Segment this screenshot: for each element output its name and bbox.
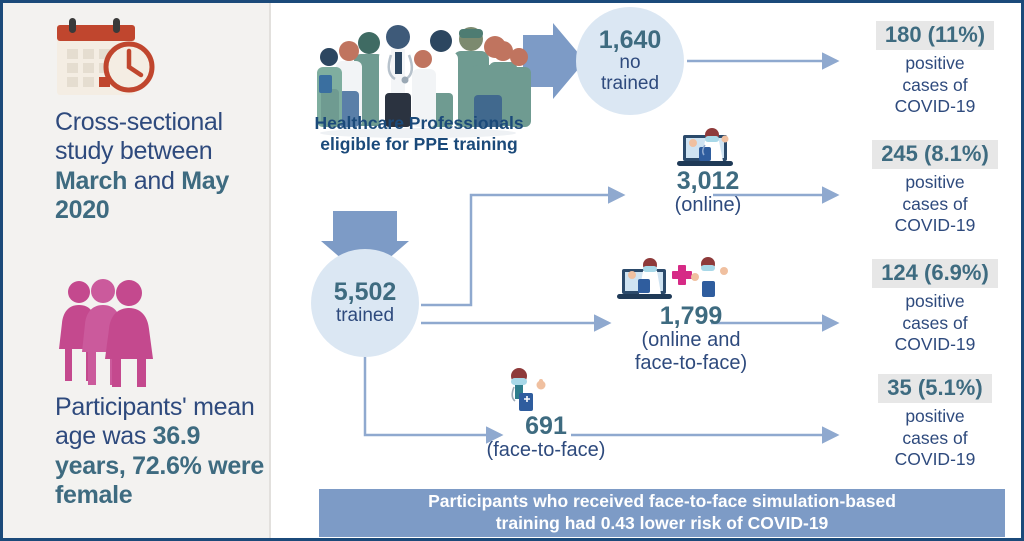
outcome-untrained-sub-2: cases of	[848, 75, 1022, 96]
study-period-text: Cross-sectional study between March and …	[55, 108, 265, 225]
outcome-f2f-head: 35 (5.1%)	[878, 374, 991, 403]
node-untrained[interactable]: 1,640 no trained	[576, 7, 684, 115]
branch-face-to-face[interactable]: 691 (face-to-face)	[451, 413, 641, 462]
outcome-f2f-sub-1: positive	[848, 406, 1022, 427]
outcome-untrained-sub-1: positive	[848, 53, 1022, 74]
infographic-root: Cross-sectional study between March and …	[0, 0, 1024, 541]
outcome-online-sub: positive cases of COVID-19	[848, 172, 1022, 236]
branch-both-value: 1,799	[601, 303, 781, 329]
laptop-doctor-plus-doctor-icon	[616, 253, 736, 305]
outcome-untrained-sub: positive cases of COVID-19	[848, 53, 1022, 117]
outcome-untrained-sub-3: COVID-19	[848, 96, 1022, 117]
outcome-online-sub-3: COVID-19	[848, 215, 1022, 236]
outcome-both-sub: positive cases of COVID-19	[848, 291, 1022, 355]
outcome-f2f-sub: positive cases of COVID-19	[848, 406, 1022, 470]
laptop-doctor-icon	[669, 123, 741, 171]
branch-online-value: 3,012	[643, 168, 773, 194]
branch-f2f-value: 691	[451, 413, 641, 439]
outcome-untrained[interactable]: 180 (11%) positive cases of COVID-19	[848, 21, 1022, 117]
branch-both[interactable]: 1,799 (online and face-to-face)	[601, 303, 781, 374]
node-untrained-label-1: no	[619, 53, 640, 74]
node-untrained-value: 1,640	[599, 27, 662, 53]
outcome-both-sub-3: COVID-19	[848, 334, 1022, 355]
branch-online[interactable]: 3,012 (online)	[643, 168, 773, 217]
team-caption-text: Healthcare Professionals eligible for PP…	[314, 113, 523, 154]
doctor-icon	[493, 365, 555, 417]
conclusion-line-2: training had 0.43 lower risk of COVID-19	[428, 513, 896, 535]
outcome-online[interactable]: 245 (8.1%) positive cases of COVID-19	[848, 140, 1022, 236]
conclusion-banner: Participants who received face-to-face s…	[319, 489, 1005, 537]
node-trained[interactable]: 5,502 trained	[311, 249, 419, 357]
branch-f2f-label-1: (face-to-face)	[451, 439, 641, 461]
left-summary-panel: Cross-sectional study between March and …	[3, 3, 271, 538]
branch-both-label-1: (online and	[601, 329, 781, 351]
node-trained-value: 5,502	[334, 279, 397, 305]
outcome-both[interactable]: 124 (6.9%) positive cases of COVID-19	[848, 259, 1022, 355]
branch-both-label-2: face-to-face)	[601, 352, 781, 374]
outcome-both-head: 124 (6.9%)	[872, 259, 998, 288]
outcome-face-to-face[interactable]: 35 (5.1%) positive cases of COVID-19	[848, 374, 1022, 470]
outcome-f2f-sub-2: cases of	[848, 428, 1022, 449]
calendar-clock-icon	[53, 17, 157, 103]
outcome-both-sub-2: cases of	[848, 313, 1022, 334]
team-caption: Healthcare Professionals eligible for PP…	[291, 113, 547, 155]
outcome-online-sub-1: positive	[848, 172, 1022, 193]
participants-text: Participants' mean age was 36.9 years, 7…	[55, 393, 265, 510]
branch-online-label-1: (online)	[643, 194, 773, 216]
outcome-online-sub-2: cases of	[848, 194, 1022, 215]
outcome-online-head: 245 (8.1%)	[872, 140, 998, 169]
outcome-untrained-head: 180 (11%)	[876, 21, 994, 50]
flow-diagram: Healthcare Professionals eligible for PP…	[271, 3, 1024, 541]
node-untrained-label-2: trained	[601, 74, 659, 95]
conclusion-line-1: Participants who received face-to-face s…	[428, 491, 896, 513]
outcome-both-sub-1: positive	[848, 291, 1022, 312]
node-trained-label-1: trained	[336, 306, 394, 327]
three-women-icon	[53, 275, 165, 387]
outcome-f2f-sub-3: COVID-19	[848, 449, 1022, 470]
